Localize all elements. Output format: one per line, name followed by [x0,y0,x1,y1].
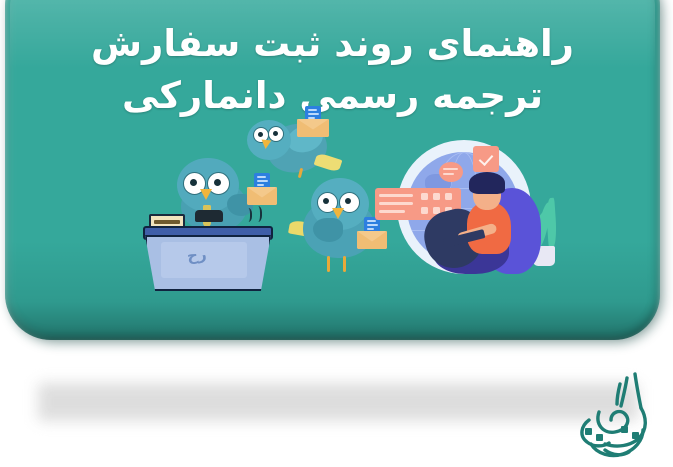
headline-line-1: راهنمای روند ثبت سفارش [31,18,634,70]
chat-bubble-icon [439,162,463,182]
brand-logo[interactable] [565,368,665,464]
desk-brand-mark: رح [186,247,207,264]
envelope-with-document [297,112,329,138]
page-title: راهنمای روند ثبت سفارش ترجمه رسمی دانمار… [5,18,660,122]
illustration-stage: رح [5,110,660,305]
desk-monitor [195,210,223,222]
bird-pupil-right [345,198,351,204]
reception-desk: رح [143,216,269,292]
bird-pupil-left [323,198,329,204]
person-hair [469,172,505,194]
gray-shadow-band [38,383,638,421]
envelope-with-document [357,226,387,251]
bird-pupil-right [273,131,278,136]
bird-tail [314,152,343,172]
plant-leaf-2 [545,198,557,249]
bird-beak [200,189,212,200]
bird-pupil-right [214,179,221,186]
bird-leg-left [327,256,330,272]
motion-line-1 [243,208,252,222]
bird-leg-right [343,256,346,272]
bird-pupil-left [258,132,263,137]
bird-wing [313,218,343,242]
check-icon [479,151,494,166]
motion-line-2 [252,206,262,222]
bird-leg [298,168,303,178]
bird-beak [261,140,272,150]
envelope-with-document [247,182,277,207]
teal-hero-card: راهنمای روند ثبت سفارش ترجمه رسمی دانمار… [5,0,660,340]
checkmark-box-icon [473,146,499,172]
banner-root: راهنمای روند ثبت سفارش ترجمه رسمی دانمار… [0,0,673,467]
person-with-laptop-scene [387,140,567,290]
bird-pupil-left [190,179,197,186]
